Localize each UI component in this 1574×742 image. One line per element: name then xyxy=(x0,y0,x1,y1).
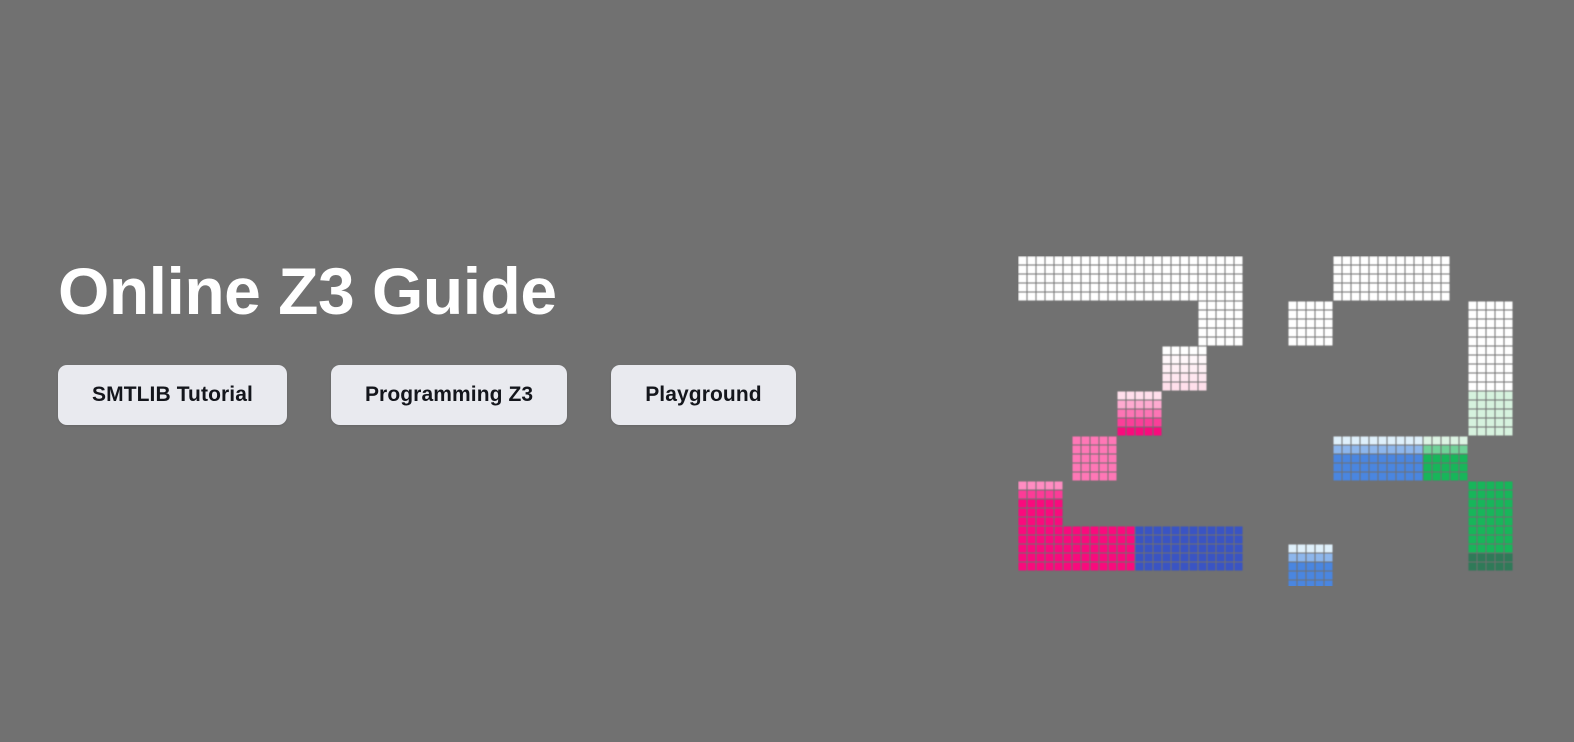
playground-button[interactable]: Playground xyxy=(611,365,796,425)
smtlib-tutorial-button[interactable]: SMTLIB Tutorial xyxy=(58,365,287,425)
hero-text-block: Online Z3 Guide xyxy=(58,258,958,324)
z3-pixel-logo xyxy=(1018,256,1518,586)
programming-z3-button[interactable]: Programming Z3 xyxy=(331,365,567,425)
nav-button-group: SMTLIB Tutorial Programming Z3 Playgroun… xyxy=(58,365,796,425)
z3-pixel-logo-canvas xyxy=(1018,256,1518,586)
page-title: Online Z3 Guide xyxy=(58,258,958,324)
hero-section: Online Z3 Guide SMTLIB Tutorial Programm… xyxy=(0,0,1574,742)
